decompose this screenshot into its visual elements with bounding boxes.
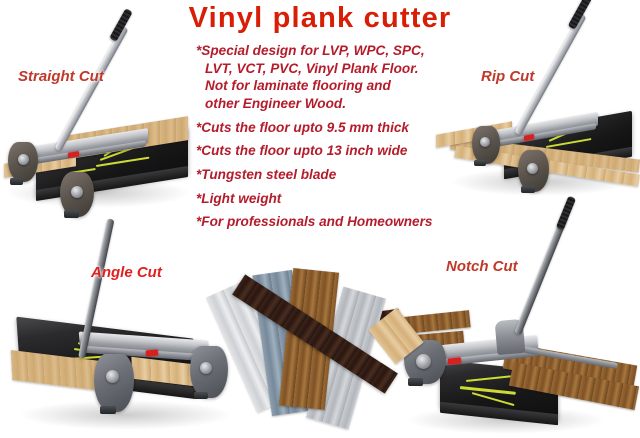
feature-line: LVT, VCT, PVC, Vinyl Plank Floor. [196,60,496,78]
pivot-bolt [106,370,119,383]
pivot-bolt [200,362,212,374]
side-arm-left [94,354,134,412]
feature-line: other Engineer Wood. [196,95,496,113]
rubber-foot [100,406,116,414]
feature-item: *Cuts the floor upto 13 inch wide [196,142,496,160]
feature-item: *Light weight [196,190,496,208]
product-poster: Vinyl plank cutter Straight Cut [0,0,640,438]
pivot-bolt [18,154,29,165]
pivot-bolt [527,163,538,174]
rubber-foot [10,178,23,185]
blade-indicator [146,349,158,356]
photo-angle-cut [8,258,243,438]
label-rip-cut: Rip Cut [481,68,534,85]
label-angle-cut: Angle Cut [91,264,162,281]
label-notch-cut: Notch Cut [446,258,518,275]
page-title: Vinyl plank cutter [0,2,640,35]
feature-item: *Special design for LVP, WPC, SPC, LVT, … [196,42,496,113]
label-straight-cut: Straight Cut [18,68,104,85]
feature-item: *For professionals and Homeowners [196,213,496,231]
photo-notch-cut [386,258,640,438]
feature-item: *Tungsten steel blade [196,166,496,184]
feature-list: *Special design for LVP, WPC, SPC, LVT, … [196,42,496,233]
feature-item: *Cuts the floor upto 9.5 mm thick [196,119,496,137]
cutter-handle[interactable] [514,214,568,335]
feature-line: *Special design for LVP, WPC, SPC, [196,43,425,58]
plank-sample-fan [228,262,414,438]
feature-line: Not for laminate flooring and [196,77,496,95]
pivot-bolt [416,354,431,369]
pivot-bolt [71,186,83,198]
rubber-foot [64,210,79,218]
rubber-foot [194,392,208,399]
rubber-foot [521,186,535,193]
